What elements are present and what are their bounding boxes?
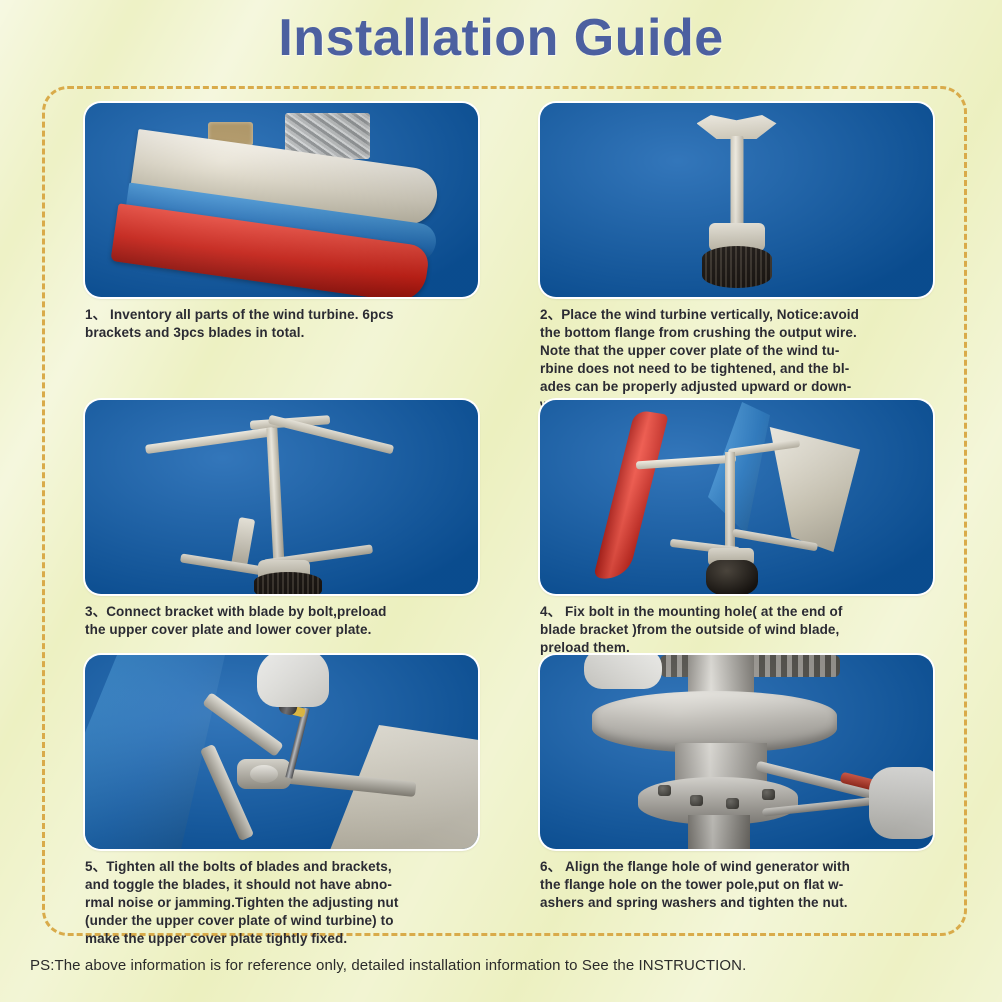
page-background: Installation Guide 1、 Inventory all part… xyxy=(0,0,1002,1002)
upper-bracket-arm-2 xyxy=(268,415,394,455)
blue-blade-part xyxy=(85,655,285,849)
vertical-turbine-photo xyxy=(540,103,933,297)
parts-inventory-photo xyxy=(85,103,478,297)
step-card-4: 4、 Fix bolt in the mounting hole( at the… xyxy=(540,400,933,657)
step-card-3: 3、Connect bracket with blade by bolt,pre… xyxy=(85,400,478,657)
bolt-tightening-photo xyxy=(85,655,478,849)
steps-row-2: 3、Connect bracket with blade by bolt,pre… xyxy=(85,400,933,657)
gloved-hand-upper xyxy=(584,655,662,689)
flange-alignment-photo xyxy=(540,655,933,849)
steps-row-1: 1、 Inventory all parts of the wind turbi… xyxy=(85,103,933,414)
upper-bracket-arm-1 xyxy=(145,427,275,454)
generator-housing xyxy=(706,560,758,594)
blade-mounting-photo xyxy=(540,400,933,594)
steps-grid: 1、 Inventory all parts of the wind turbi… xyxy=(85,103,933,933)
flange-bolt xyxy=(690,795,703,806)
gloved-hand xyxy=(257,655,329,707)
step-caption-5: 5、Tighten all the bolts of blades and br… xyxy=(85,858,478,948)
page-title: Installation Guide xyxy=(0,8,1002,68)
blue-blade-part xyxy=(708,402,770,534)
step-caption-3: 3、Connect bracket with blade by bolt,pre… xyxy=(85,603,478,639)
tower-pole-lower xyxy=(688,815,750,849)
generator-housing xyxy=(702,246,772,288)
flange-bolt xyxy=(658,785,671,796)
gloved-hand xyxy=(869,767,933,839)
steps-row-3: 5、Tighten all the bolts of blades and br… xyxy=(85,655,933,948)
bracket-assembly-photo xyxy=(85,400,478,594)
screwdriver-shaft-icon xyxy=(285,707,309,779)
step-card-1: 1、 Inventory all parts of the wind turbi… xyxy=(85,103,478,414)
step-caption-6: 6、 Align the flange hole of wind generat… xyxy=(540,858,933,912)
ps-note: PS:The above information is for referenc… xyxy=(30,957,980,974)
hub-cap xyxy=(250,765,278,783)
step-card-6: 6、 Align the flange hole of wind generat… xyxy=(540,655,933,948)
flange-bolt xyxy=(762,789,775,800)
step-card-5: 5、Tighten all the bolts of blades and br… xyxy=(85,655,478,948)
generator-housing xyxy=(254,572,322,594)
step-card-2: 2、Place the wind turbine vertically, Not… xyxy=(540,103,933,414)
red-blade-part xyxy=(593,410,668,583)
step-caption-1: 1、 Inventory all parts of the wind turbi… xyxy=(85,306,478,342)
flange-bolt xyxy=(726,798,739,809)
turbine-shaft xyxy=(266,428,284,568)
step-caption-4: 4、 Fix bolt in the mounting hole( at the… xyxy=(540,603,933,657)
step-caption-2: 2、Place the wind turbine vertically, Not… xyxy=(540,306,933,414)
